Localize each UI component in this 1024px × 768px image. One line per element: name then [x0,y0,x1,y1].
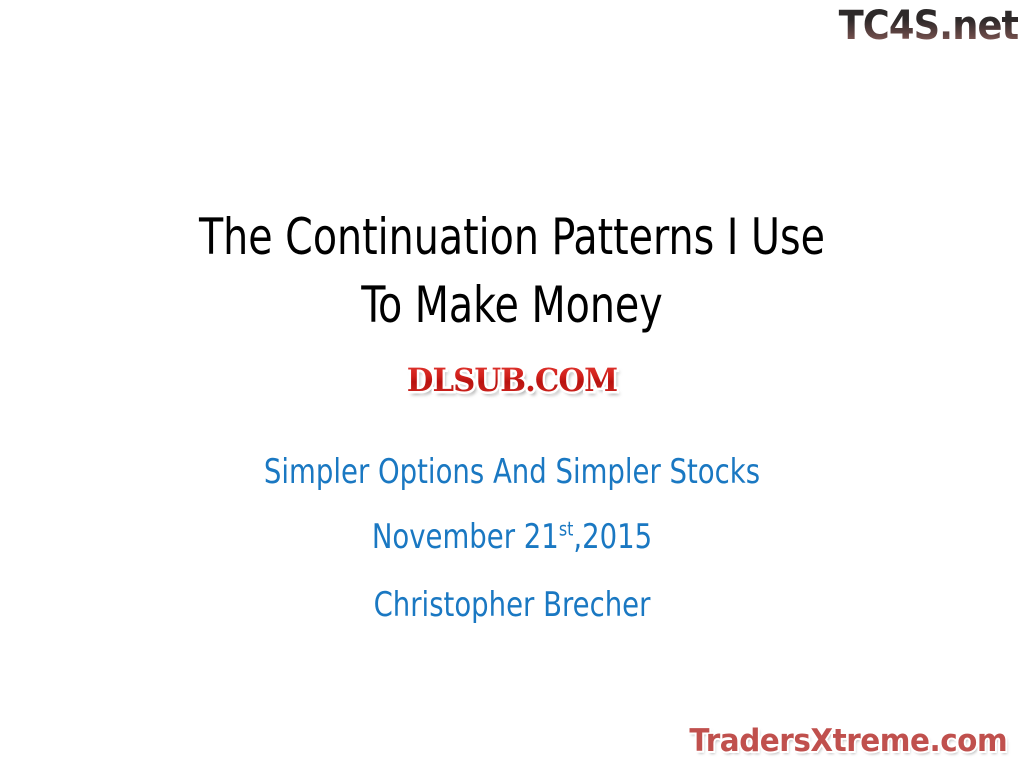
slide-title-line-2: To Make Money [61,271,962,339]
subtitle-presenter: Christopher Brecher [51,581,973,629]
slide-title: The Continuation Patterns I Use To Make … [0,203,1024,339]
dlsub-watermark-text: DLSUB.COM [407,362,617,398]
dlsub-watermark: DLSUB.COM DLSUB.COM [394,360,629,401]
subtitle-organization: Simpler Options And Simpler Stocks [51,448,973,496]
slide-subtitle: Simpler Options And Simpler Stocks Novem… [0,448,1024,629]
slide-title-line-1: The Continuation Patterns I Use [61,203,962,271]
tradersxtreme-watermark-text: TradersXtreme.com [690,722,1008,760]
tc4s-logo-watermark: TC4S.net [838,2,1018,50]
subtitle-date-suffix: ,2015 [573,517,652,557]
subtitle-date-prefix: November 21 [372,517,559,557]
subtitle-date-ordinal: st [559,518,574,541]
subtitle-date: November 21st,2015 [51,513,973,561]
tradersxtreme-watermark: TradersXtreme.com TradersXtreme.com [681,722,1016,760]
presentation-slide: TC4S.net The Continuation Patterns I Use… [0,0,1024,768]
